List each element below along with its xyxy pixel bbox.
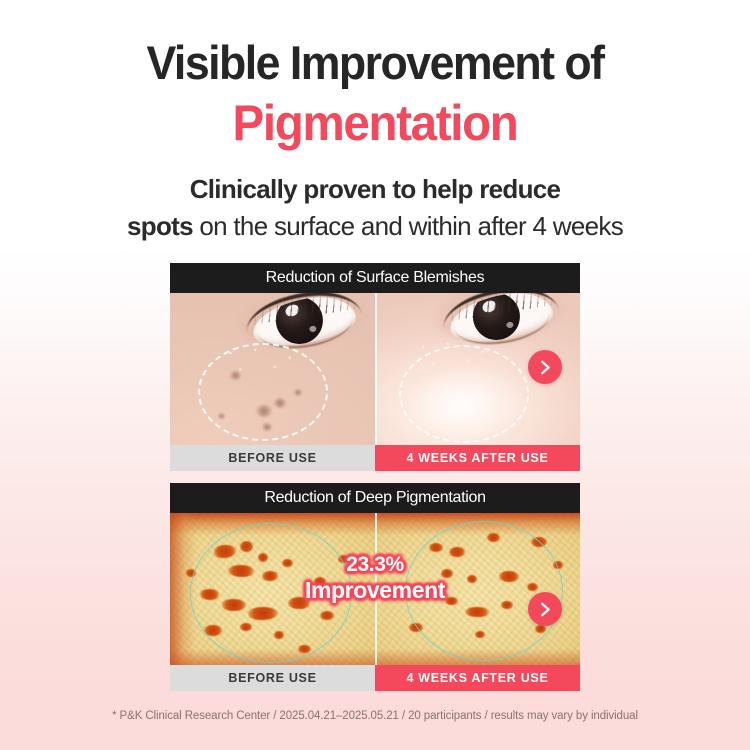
panel-deep-photos: 23.3% Improvement — [170, 513, 580, 665]
headline-block: Visible Improvement of Pigmentation — [0, 34, 750, 154]
uv-analysis-circle-after — [405, 521, 563, 661]
panel-deep-title: Reduction of Deep Pigmentation — [170, 483, 580, 513]
caption-before-surface: BEFORE USE — [170, 445, 375, 471]
clinical-study-footnote: * P&K Clinical Research Center / 2025.04… — [0, 710, 750, 722]
subheading-line-2-rest: on the surface and within after 4 weeks — [193, 211, 623, 241]
caption-after-surface: 4 WEEKS AFTER USE — [375, 445, 580, 471]
chevron-right-icon[interactable] — [528, 592, 562, 626]
panel-surface-blemishes: Reduction of Surface Blemishes — [170, 263, 580, 471]
caption-after-deep: 4 WEEKS AFTER USE — [375, 665, 580, 691]
photo-surface-before — [170, 293, 375, 445]
chevron-right-icon[interactable] — [528, 350, 562, 384]
uv-analysis-circle-before — [190, 523, 352, 663]
panel-deep-pigmentation: Reduction of Deep Pigmentation — [170, 483, 580, 691]
photo-deep-after — [375, 513, 580, 665]
caption-before-deep: BEFORE USE — [170, 665, 375, 691]
subheading-emphasis-spots: spots — [127, 211, 193, 241]
headline-line-1: Visible Improvement of — [19, 34, 732, 92]
analysis-circle-before — [198, 343, 328, 441]
subheading-block: Clinically proven to help reduce spots o… — [0, 172, 750, 243]
panel-deep-captions: BEFORE USE 4 WEEKS AFTER USE — [170, 665, 580, 691]
promo-page: Visible Improvement of Pigmentation Clin… — [0, 0, 750, 750]
panel-surface-captions: BEFORE USE 4 WEEKS AFTER USE — [170, 445, 580, 471]
photo-deep-before — [170, 513, 375, 665]
headline-line-2-pigmentation: Pigmentation — [19, 92, 732, 154]
panel-surface-title: Reduction of Surface Blemishes — [170, 263, 580, 293]
panel-surface-photos — [170, 293, 580, 445]
subheading-line-2: spots on the surface and within after 4 … — [0, 209, 750, 243]
analysis-circle-after — [399, 345, 529, 443]
subheading-line-1: Clinically proven to help reduce — [0, 172, 750, 206]
